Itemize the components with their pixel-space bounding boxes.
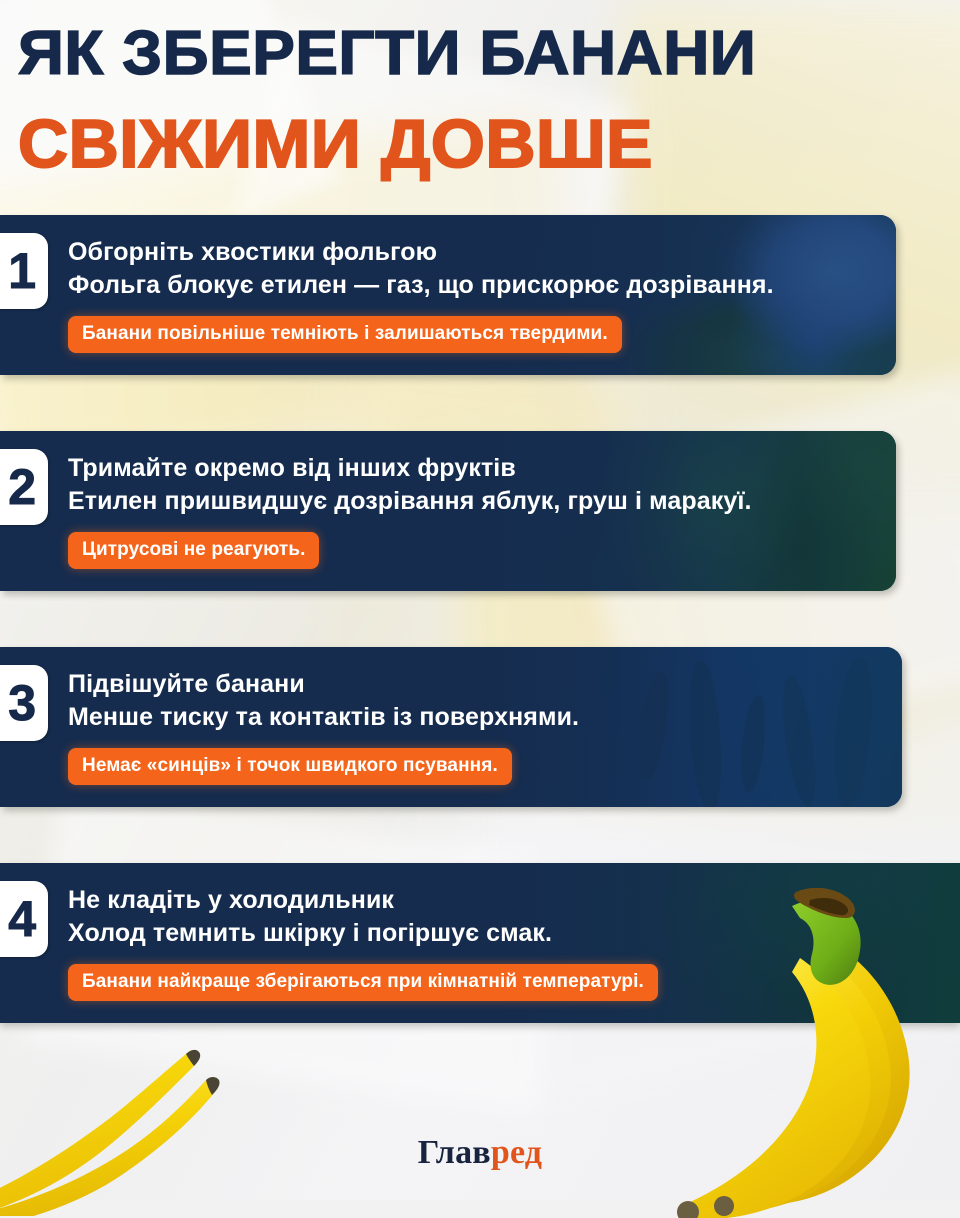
- banana-bunch-left-icon: [0, 1036, 340, 1216]
- logo-part-glav: Глав: [418, 1134, 491, 1171]
- tip-card-2: 2 Тримайте окремо від інших фруктів Етил…: [0, 431, 896, 591]
- tip-title-3: Підвішуйте банани: [68, 669, 878, 700]
- tip-number-badge-2: 2: [0, 449, 48, 525]
- tip-title-1: Обгорніть хвостики фольгою: [68, 237, 872, 268]
- tip-highlight-2: Цитрусові не реагують.: [68, 532, 319, 569]
- tip-card-1: 1 Обгорніть хвостики фольгою Фольга блок…: [0, 215, 896, 375]
- tip-number-4: 4: [8, 894, 36, 944]
- tip-description-3: Менше тиску та контактів із поверхнями.: [68, 702, 878, 733]
- page-header: ЯК ЗБЕРЕГТИ БАНАНИ СВІЖИМИ ДОВШЕ: [0, 0, 960, 177]
- site-logo[interactable]: Главред: [0, 1134, 960, 1172]
- tip-number-badge-4: 4: [0, 881, 48, 957]
- tip-description-2: Етилен пришвидшує дозрівання яблук, груш…: [68, 486, 872, 517]
- tip-number-1: 1: [8, 246, 36, 296]
- tip-highlight-3: Немає «синців» і точок швидкого псування…: [68, 748, 512, 785]
- tip-title-2: Тримайте окремо від інших фруктів: [68, 453, 872, 484]
- page-title-line-2: СВІЖИМИ ДОВШЕ: [18, 111, 960, 178]
- tip-number-badge-1: 1: [0, 233, 48, 309]
- page-title-line-1: ЯК ЗБЕРЕГТИ БАНАНИ: [18, 24, 960, 85]
- tip-card-3: 3 Підвішуйте банани Менше тиску та конта…: [0, 647, 902, 807]
- tip-description-1: Фольга блокує етилен — газ, що прискорює…: [68, 270, 872, 301]
- footer: Главред: [0, 1134, 960, 1172]
- tip-highlight-4: Банани найкраще зберігаються при кімнатн…: [68, 964, 658, 1001]
- tip-number-badge-3: 3: [0, 665, 48, 741]
- tip-number-3: 3: [8, 678, 36, 728]
- tip-number-2: 2: [8, 462, 36, 512]
- logo-part-red: ред: [491, 1134, 542, 1171]
- tip-highlight-1: Банани повільніше темніють і залишаються…: [68, 316, 622, 353]
